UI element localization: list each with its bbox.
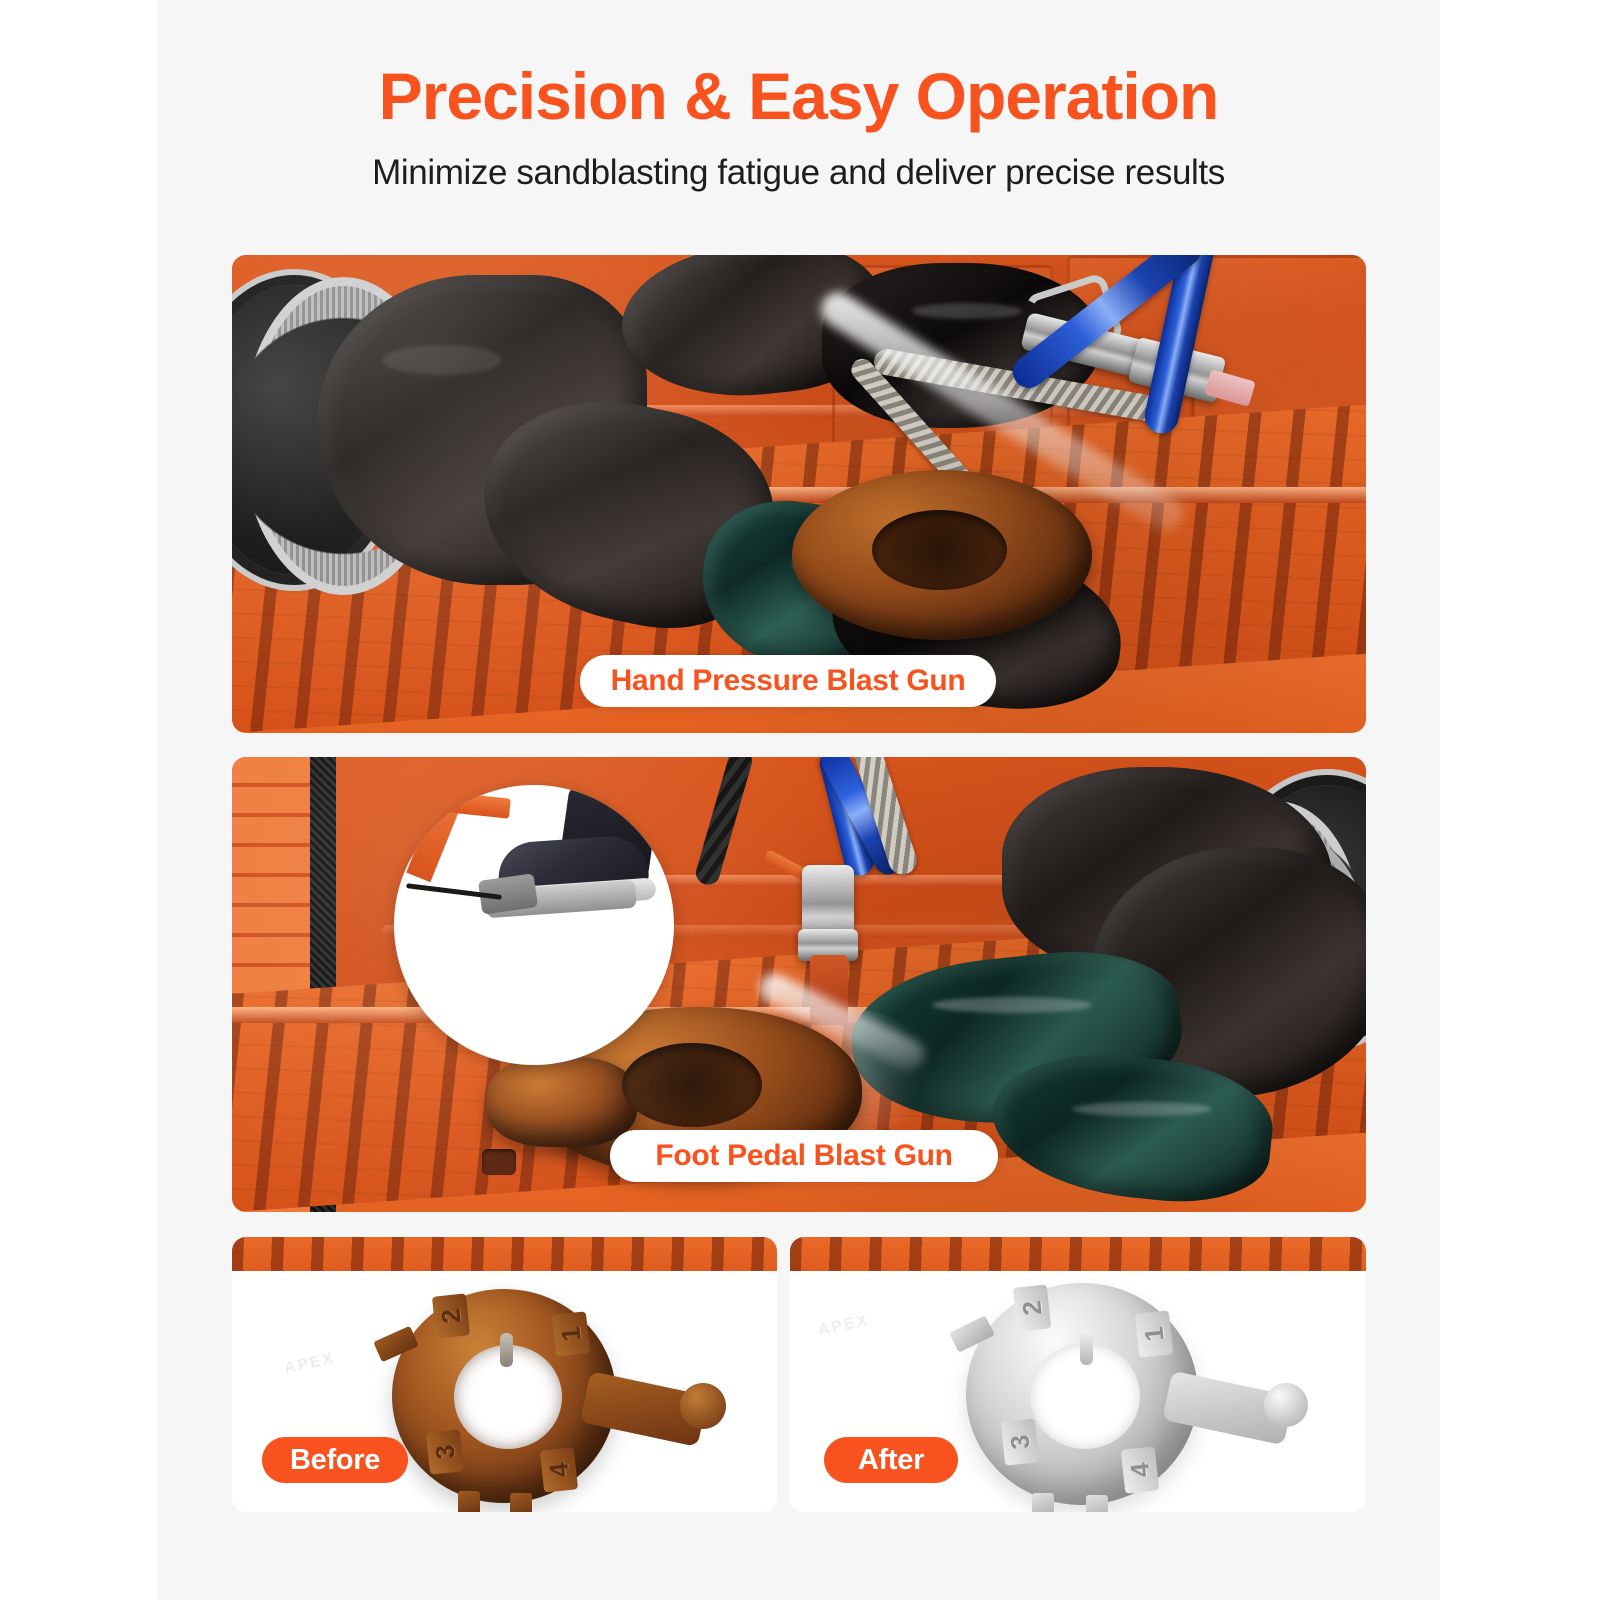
part-number-lug: 3: [1001, 1418, 1039, 1465]
workpiece-bore: [622, 1043, 762, 1127]
watermark: APEX: [283, 1350, 337, 1378]
badge-after: After: [824, 1437, 958, 1483]
part-handle-ball: [680, 1383, 726, 1429]
part-number-lug: 1: [1135, 1310, 1173, 1357]
glove-highlight: [932, 997, 1092, 1013]
page-title: Precision & Easy Operation: [157, 0, 1440, 131]
part-number-lug: 3: [426, 1429, 464, 1474]
before-card: APEX 2 1 3 4 Before: [232, 1237, 777, 1512]
header: Precision & Easy Operation Minimize sand…: [157, 0, 1440, 193]
part-number-lug: 1: [552, 1311, 590, 1356]
glove-highlight: [912, 303, 1022, 319]
watermark: APEX: [817, 1312, 871, 1340]
badge-foot-pedal: Foot Pedal Blast Gun: [610, 1130, 998, 1182]
part-number-lug: 4: [1121, 1446, 1159, 1493]
rusty-workpiece-arm: [487, 1057, 637, 1147]
badge-hand-pressure: Hand Pressure Blast Gun: [580, 655, 996, 707]
part-number-lug: 2: [432, 1293, 470, 1338]
after-card: APEX 2 1 3 4 After: [790, 1237, 1366, 1512]
grate-strip: [232, 1237, 777, 1271]
product-feature-page: Precision & Easy Operation Minimize sand…: [0, 0, 1600, 1600]
floor-drain-hole: [482, 1149, 516, 1175]
workpiece-after: 2 1 3 4: [940, 1273, 1340, 1508]
part-number-lug: 2: [1013, 1284, 1051, 1331]
part-tab: [1032, 1493, 1054, 1512]
part-pin: [500, 1333, 513, 1367]
grate-strip: [790, 1237, 1366, 1271]
badge-before: Before: [262, 1437, 408, 1483]
part-handle-ball: [1264, 1383, 1308, 1427]
part-tab: [510, 1493, 532, 1512]
page-subtitle: Minimize sandblasting fatigue and delive…: [157, 131, 1440, 193]
workpiece-bore: [872, 510, 1007, 590]
part-tab: [1086, 1495, 1108, 1512]
part-pin: [1080, 1331, 1093, 1365]
part-tab: [458, 1491, 480, 1512]
glove-highlight: [1072, 1102, 1212, 1116]
gauntlet-highlight: [382, 345, 502, 375]
foot-pedal-panel: Foot Pedal Blast Gun: [232, 757, 1366, 1212]
foot-pedal-inset: [394, 785, 674, 1065]
part-number-lug: 4: [540, 1447, 578, 1492]
workpiece-before: 2 1 3 4: [362, 1277, 742, 1507]
hand-pressure-panel: Hand Pressure Blast Gun: [232, 255, 1366, 733]
